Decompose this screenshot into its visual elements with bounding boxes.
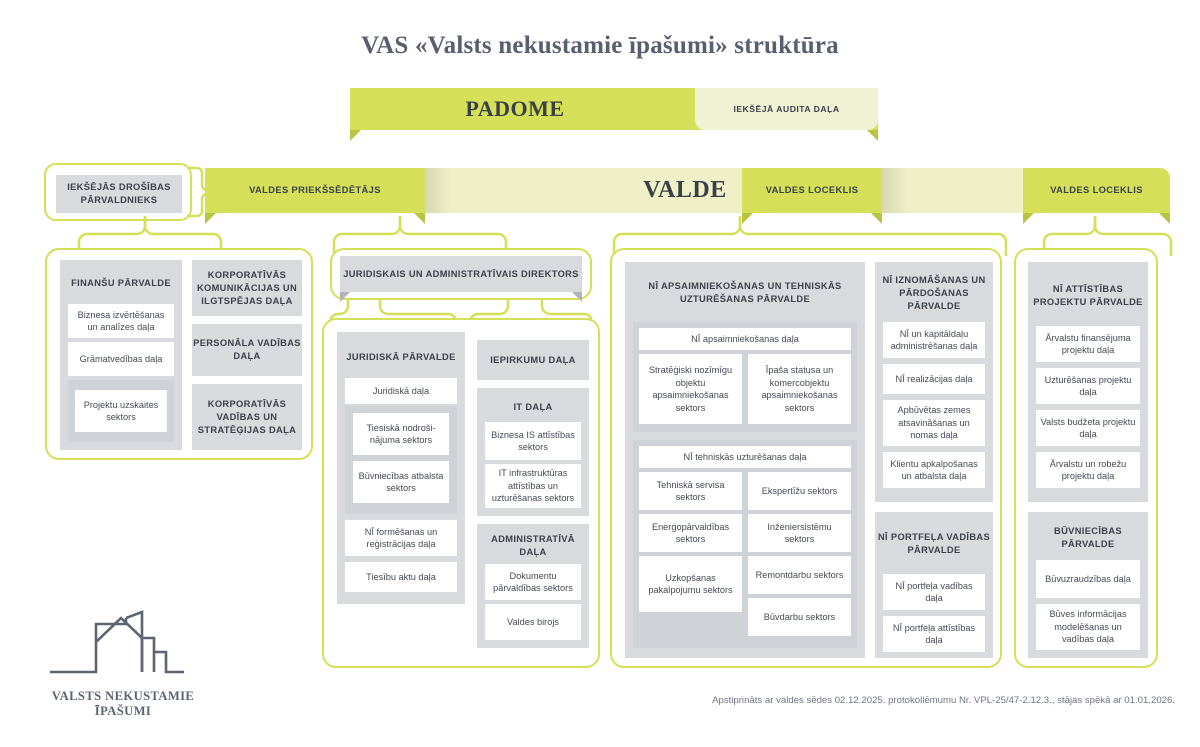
unit-item[interactable]: Tiesību aktu daļa <box>345 562 457 592</box>
unit-item[interactable]: NĪ realizācijas daļa <box>883 364 985 394</box>
unit-head[interactable]: NĪ APSAIMNIEKOŠANAS UN TEHNISKĀS UZTURĒŠ… <box>625 270 865 316</box>
sub-group-item[interactable]: Īpaša statusa un komercobjektu apsaimnie… <box>748 354 851 424</box>
unit-item[interactable]: Dokumentu pārvaldības sektors <box>485 564 581 600</box>
unit-ni-apsaimniekosanas: NĪ APSAIMNIEKOŠANAS UN TEHNISKĀS UZTURĒŠ… <box>625 262 865 658</box>
unit-ni-attistibas: NĪ ATTĪSTĪBAS PROJEKTU PĀRVALDE Ārvalstu… <box>1028 262 1148 502</box>
security-officer-frame: IEKŠĒJĀS DROŠĪBAS PĀRVALDNIEKS <box>44 163 192 221</box>
sub-group-item[interactable]: Stratēģiski nozīmīgu objektu apsaimnieko… <box>639 354 742 424</box>
unit-head[interactable]: NĪ PORTFEĻA VADĪBAS PĀRVALDE <box>875 522 993 566</box>
sub-group-item[interactable]: Inženiersistēmu sektors <box>748 514 851 552</box>
unit-item[interactable]: Grāmatvedības daļa <box>68 342 174 376</box>
unit-ni-portfela: NĪ PORTFEĻA VADĪBAS PĀRVALDE NĪ portfeļa… <box>875 512 993 658</box>
sub-group-title[interactable]: NĪ tehniskās uzturēšanas daļa <box>639 446 851 468</box>
sub-group-item[interactable]: Uzkopšanas pakalpojumu sektors <box>639 556 742 612</box>
logo-line-2: ĪPAŠUMI <box>38 704 208 719</box>
unit-item[interactable]: IT infrastruktūras attīstības un uzturēš… <box>485 464 581 508</box>
sub-group-apsaimniekosana: NĪ apsaimniekošanas daļa Stratēģiski noz… <box>633 322 857 432</box>
unit-iepirkumu-dala[interactable]: IEPIRKUMU DAĻA <box>477 340 589 380</box>
unit-item[interactable]: Juridiskā daļa <box>345 378 457 404</box>
unit-item[interactable]: Būves informācijas modelēšanas un vadība… <box>1036 604 1140 650</box>
unit-item[interactable]: Valdes birojs <box>485 604 581 640</box>
unit-item[interactable]: Valsts budžeta projektu daļa <box>1036 410 1140 446</box>
exec-box-chairman[interactable]: VALDES PRIEKŠSĒDĒTĀJS <box>205 168 425 213</box>
sub-group-item[interactable]: Būvdarbu sektors <box>748 598 851 636</box>
security-officer-box[interactable]: IEKŠĒJĀS DROŠĪBAS PĀRVALDNIEKS <box>56 175 182 213</box>
unit-item[interactable]: NĪ portfeļa vadības daļa <box>883 574 985 610</box>
logo: VALSTS NEKUSTAMIE ĪPAŠUMI <box>38 608 208 719</box>
column-frame-finance: FINANŠU PĀRVALDE Biznesa izvērtēšanas un… <box>45 248 313 460</box>
nested-item[interactable]: Tiesiskā nodroši-nājuma sektors <box>353 413 449 455</box>
unit-it-dala: IT DAĻA Biznesa IS attīstības sektors IT… <box>477 388 589 516</box>
page-title: VAS «Valsts nekustamie īpašumi» struktūr… <box>0 32 1200 60</box>
unit-item[interactable]: Ārvalstu un robežu projektu daļa <box>1036 452 1140 488</box>
org-chart-page: VAS «Valsts nekustamie īpašumi» struktūr… <box>0 0 1200 747</box>
unit-ni-iznomasanas: NĪ IZNOMĀŠANAS UN PĀRDOŠANAS PĀRVALDE NĪ… <box>875 262 993 502</box>
nested-group: Tiesiskā nodroši-nājuma sektors Būvniecī… <box>345 406 457 514</box>
unit-personala-vadibas[interactable]: PERSONĀLA VADĪBAS DAĻA <box>192 324 302 376</box>
unit-item[interactable]: NĪ portfeļa attīstības daļa <box>883 616 985 652</box>
building-logo-icon <box>38 608 208 680</box>
unit-head[interactable]: JURIDISKĀ PĀRVALDE <box>337 340 465 374</box>
internal-audit-box[interactable]: IEKŠĒJĀ AUDITA DAĻA <box>695 88 878 130</box>
exec-label: VALDES PRIEKŠSĒDĒTĀJS <box>249 184 381 197</box>
column-frame-development: NĪ ATTĪSTĪBAS PROJEKTU PĀRVALDE Ārvalstu… <box>1014 248 1158 668</box>
unit-item[interactable]: NĪ formēšanas un reģistrācijas daļa <box>345 520 457 556</box>
unit-head[interactable]: BŪVNIECĪBAS PĀRVALDE <box>1028 522 1148 554</box>
unit-finansu-parvalde: FINANŠU PĀRVALDE Biznesa izvērtēšanas un… <box>60 260 182 450</box>
unit-item[interactable]: Būvuzraudzības daļa <box>1036 560 1140 598</box>
unit-item[interactable]: Ārvalstu finansējuma projektu daļa <box>1036 326 1140 362</box>
padome-tab-right-icon <box>867 130 878 141</box>
footer-note: Apstiprināts ar valdes sēdes 02.12.2025.… <box>655 695 1175 706</box>
unit-head[interactable]: ADMINISTRATĪVĀ DAĻA <box>477 532 589 560</box>
column-frame-operations: NĪ APSAIMNIEKOŠANAS UN TEHNISKĀS UZTURĒŠ… <box>610 248 1002 668</box>
column-frame-legal-admin: JURIDISKĀ PĀRVALDE Juridiskā daļa Tiesis… <box>322 318 600 668</box>
valde-band: VALDE VALDES PRIEKŠSĒDĒTĀJS VALDES LOCEK… <box>205 168 1170 213</box>
unit-item[interactable]: Biznesa IS attīstības sektors <box>485 422 581 460</box>
exec-label: VALDES LOCEKLIS <box>1050 184 1143 197</box>
sub-group-tehniska-uzturesana: NĪ tehniskās uzturēšanas daļa Tehniskā s… <box>633 440 857 648</box>
unit-item[interactable]: NĪ un kapitāldaļu administrēšanas daļa <box>883 322 985 358</box>
logo-line-1: VALSTS NEKUSTAMIE <box>38 689 208 704</box>
sub-group-item[interactable]: Tehniskā servisa sektors <box>639 472 742 510</box>
logo-text: VALSTS NEKUSTAMIE ĪPAŠUMI <box>38 689 208 719</box>
sub-group-title[interactable]: NĪ apsaimniekošanas daļa <box>639 328 851 350</box>
exec-box-member-2[interactable]: VALDES LOCEKLIS <box>1023 168 1170 213</box>
padome-band: PADOME IEKŠĒJĀ AUDITA DAĻA <box>350 88 878 130</box>
unit-item[interactable]: Apbūvētas zemes atsavināšanas un nomas d… <box>883 400 985 446</box>
unit-buvniecibas-parvalde: BŪVNIECĪBAS PĀRVALDE Būvuzraudzības daļa… <box>1028 512 1148 658</box>
unit-korporativas-vadibas[interactable]: KORPORATĪVĀS VADĪBAS UN STRATĒĢIJAS DAĻA <box>192 384 302 450</box>
unit-item[interactable]: Uzturēšanas projektu daļa <box>1036 368 1140 404</box>
sub-group-item[interactable]: Ekspertīžu sektors <box>748 472 851 510</box>
unit-korporativas-komunikacijas[interactable]: KORPORATĪVĀS KOMUNIKĀCIJAS UN ILGTSPĒJAS… <box>192 260 302 316</box>
padome-label: PADOME <box>350 88 680 130</box>
sub-group-item[interactable]: Remontdarbu sektors <box>748 556 851 594</box>
unit-head[interactable]: FINANŠU PĀRVALDE <box>60 266 182 300</box>
director-box[interactable]: JURIDISKAIS UN ADMINISTRATĪVAIS DIREKTOR… <box>340 256 582 292</box>
unit-head[interactable]: IT DAĻA <box>477 398 589 416</box>
unit-item[interactable]: Klientu apkalpošanas un atbalsta daļa <box>883 452 985 488</box>
exec-label: VALDES LOCEKLIS <box>766 184 859 197</box>
unit-head[interactable]: NĪ ATTĪSTĪBAS PROJEKTU PĀRVALDE <box>1028 272 1148 320</box>
nested-item[interactable]: Projektu uzskaites sektors <box>75 390 167 432</box>
nested-item[interactable]: Būvniecības atbalsta sektors <box>353 461 449 503</box>
nested-group: Projektu uzskaites sektors <box>68 380 174 442</box>
unit-head[interactable]: NĪ IZNOMĀŠANAS UN PĀRDOŠANAS PĀRVALDE <box>875 270 993 316</box>
sub-group-item[interactable]: Energopārvaldības sektors <box>639 514 742 552</box>
valde-shade-1 <box>425 168 451 213</box>
unit-administrativa-dala: ADMINISTRATĪVĀ DAĻA Dokumentu pārvaldība… <box>477 524 589 648</box>
unit-juridiska-parvalde: JURIDISKĀ PĀRVALDE Juridiskā daļa Tiesis… <box>337 332 465 604</box>
padome-tab-left-icon <box>350 130 361 141</box>
valde-shade-2 <box>882 168 908 213</box>
exec-box-member-1[interactable]: VALDES LOCEKLIS <box>742 168 882 213</box>
unit-item[interactable]: Biznesa izvērtēšanas un analīzes daļa <box>68 304 174 338</box>
